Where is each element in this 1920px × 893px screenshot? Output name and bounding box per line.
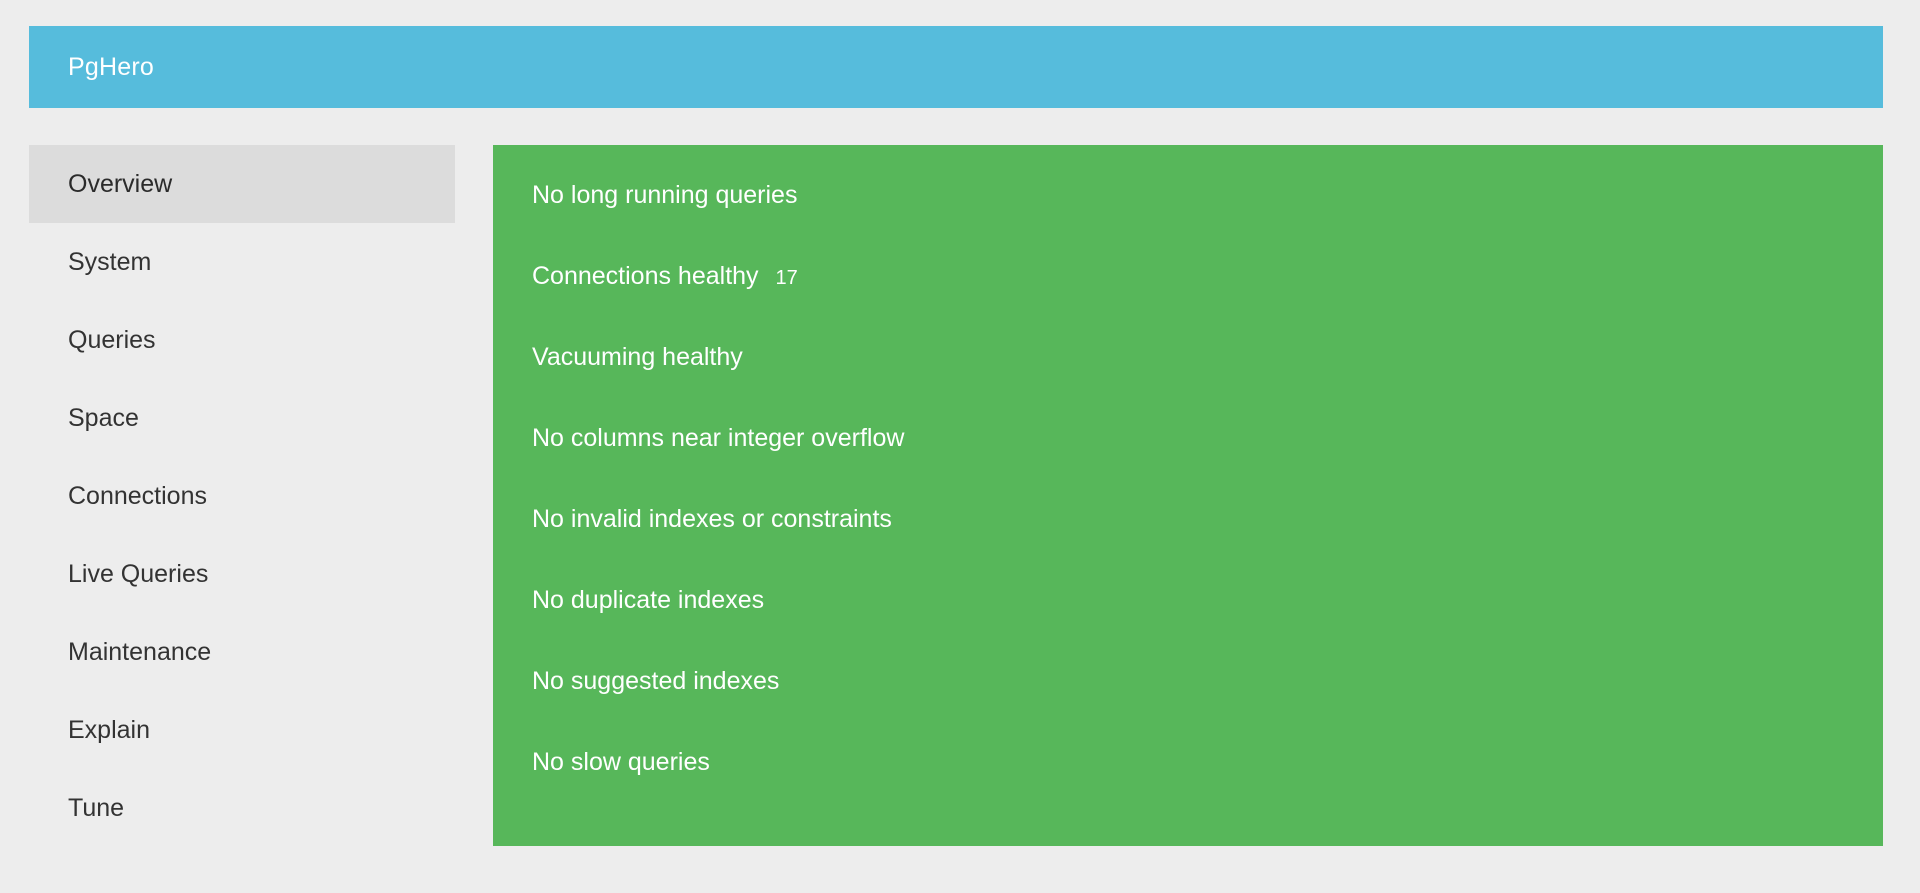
status-row[interactable]: Vacuuming healthy [493,345,1883,426]
sidebar-item-tune[interactable]: Tune [29,769,455,847]
sidebar-item-live-queries[interactable]: Live Queries [29,535,455,613]
status-row[interactable]: No suggested indexes [493,669,1883,750]
status-label: Vacuuming healthy [532,345,743,370]
sidebar-item-system[interactable]: System [29,223,455,301]
status-label: No suggested indexes [532,669,779,694]
pghero-dashboard: PgHero OverviewSystemQueriesSpaceConnect… [0,0,1920,893]
sidebar-item-space[interactable]: Space [29,379,455,457]
sidebar-item-label[interactable]: Explain [29,691,455,769]
navbar: PgHero [29,26,1883,108]
sidebar-item-queries[interactable]: Queries [29,301,455,379]
status-label: No invalid indexes or constraints [532,507,892,532]
status-row[interactable]: Connections healthy17 [493,264,1883,345]
status-row[interactable]: No duplicate indexes [493,588,1883,669]
status-label: Connections healthy [532,264,759,289]
sidebar-nav: OverviewSystemQueriesSpaceConnectionsLiv… [29,145,455,847]
sidebar-item-label[interactable]: Tune [29,769,455,847]
sidebar-item-label[interactable]: Maintenance [29,613,455,691]
sidebar-item-overview[interactable]: Overview [29,145,455,223]
sidebar-item-label[interactable]: Connections [29,457,455,535]
status-row[interactable]: No long running queries [493,183,1883,264]
sidebar-item-label[interactable]: Space [29,379,455,457]
sidebar-item-connections[interactable]: Connections [29,457,455,535]
brand-link[interactable]: PgHero [68,55,154,80]
sidebar-item-label[interactable]: Overview [29,145,455,223]
content-row: OverviewSystemQueriesSpaceConnectionsLiv… [29,145,1883,865]
status-row[interactable]: No slow queries [493,750,1883,810]
status-list: No long running queriesConnections healt… [493,183,1883,810]
sidebar-item-maintenance[interactable]: Maintenance [29,613,455,691]
status-count: 17 [776,268,798,288]
status-row[interactable]: No invalid indexes or constraints [493,507,1883,588]
status-panel: No long running queriesConnections healt… [493,145,1883,846]
sidebar-item-label[interactable]: System [29,223,455,301]
status-label: No long running queries [532,183,797,208]
sidebar-item-explain[interactable]: Explain [29,691,455,769]
status-row[interactable]: No columns near integer overflow [493,426,1883,507]
status-label: No columns near integer overflow [532,426,904,451]
status-label: No duplicate indexes [532,588,764,613]
status-label: No slow queries [532,750,710,775]
sidebar-item-label[interactable]: Queries [29,301,455,379]
sidebar-item-label[interactable]: Live Queries [29,535,455,613]
